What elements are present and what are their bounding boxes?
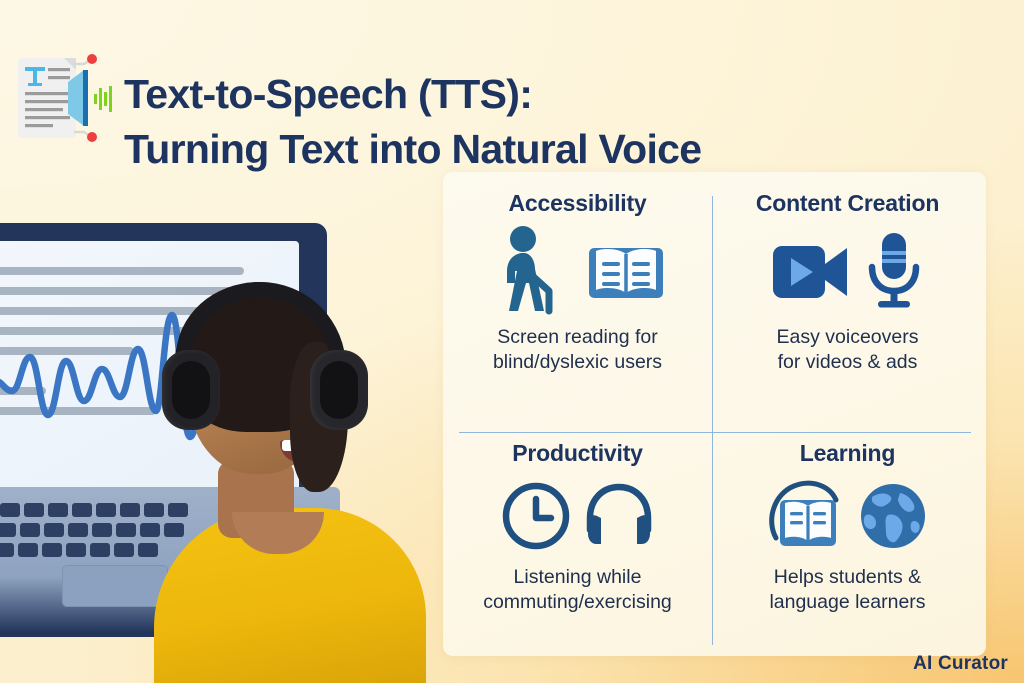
quadrant-learning[interactable]: Learning [713, 440, 982, 656]
title-line-1: Text-to-Speech (TTS): [124, 67, 884, 121]
quadrant-description: Helps students & language learners [713, 565, 982, 614]
microphone-icon [863, 231, 925, 311]
quadrant-title: Content Creation [713, 190, 982, 217]
open-book-icon [587, 240, 665, 302]
brand-footer: AI Curator [913, 653, 1008, 675]
quadrant-icons [443, 223, 712, 319]
quadrant-description: Easy voiceovers for videos & ads [713, 325, 982, 374]
page-title: Text-to-Speech (TTS): Turning Text into … [124, 67, 884, 175]
quadrant-title: Learning [713, 440, 982, 467]
header: Text-to-Speech (TTS): Turning Text into … [0, 0, 1024, 172]
globe-icon [858, 481, 928, 551]
quadrant-desc-line-2: for videos & ads [713, 350, 982, 375]
title-line-2: Turning Text into Natural Voice [124, 122, 884, 176]
quadrant-title: Productivity [443, 440, 712, 467]
book-with-arc-icon [768, 480, 846, 552]
headphones-icon [583, 482, 655, 550]
horizontal-divider [459, 432, 971, 433]
headphone-cup-left [162, 350, 220, 430]
quadrant-desc-line-1: Listening while [443, 565, 712, 590]
quadrant-title: Accessibility [443, 190, 712, 217]
illustration-scene [0, 215, 440, 683]
infographic-canvas: Text-to-Speech (TTS): Turning Text into … [0, 0, 1024, 683]
quadrant-icons [713, 473, 982, 559]
video-camera-icon [771, 238, 851, 304]
quadrant-desc-line-2: commuting/exercising [443, 590, 712, 615]
quadrant-desc-line-1: Helps students & [713, 565, 982, 590]
tts-document-speaker-icon [8, 50, 112, 146]
woman-with-headphones-photo [140, 280, 440, 683]
quadrant-icons [443, 473, 712, 559]
headphone-cup-right [310, 350, 368, 430]
quadrant-accessibility[interactable]: Accessibility [443, 190, 712, 432]
benefits-card: Accessibility [443, 172, 986, 656]
quadrant-desc-line-1: Easy voiceovers [713, 325, 982, 350]
quadrant-desc-line-2: blind/dyslexic users [443, 350, 712, 375]
quadrant-description: Screen reading for blind/dyslexic users [443, 325, 712, 374]
person-with-cane-icon [491, 225, 575, 317]
quadrant-desc-line-1: Screen reading for [443, 325, 712, 350]
quadrant-desc-line-2: language learners [713, 590, 982, 615]
quadrant-productivity[interactable]: Productivity Listening while commuting/e… [443, 440, 712, 656]
quadrant-icons [713, 223, 982, 319]
quadrant-content-creation[interactable]: Content Creation Easy voiceovers [713, 190, 982, 432]
quadrant-description: Listening while commuting/exercising [443, 565, 712, 614]
clock-icon [501, 481, 571, 551]
